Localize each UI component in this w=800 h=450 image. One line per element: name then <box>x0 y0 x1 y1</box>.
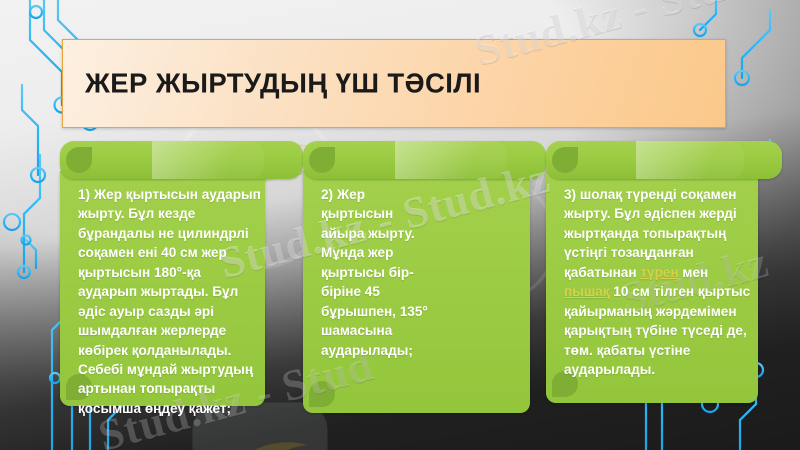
inline-link-пышақ[interactable]: пышақ <box>564 284 610 299</box>
content-box-banner <box>546 141 782 179</box>
page-title: ЖЕР ЖЫРТУДЫҢ ҮШ ТӘСІЛІ <box>85 67 481 99</box>
banner-sheen <box>636 141 745 179</box>
slide-canvas: ЖЕР ЖЫРТУДЫҢ ҮШ ТӘСІЛІ 1) Жер қыртысын а… <box>0 0 800 450</box>
corner-knob-icon <box>309 147 335 173</box>
banner-sheen <box>395 141 507 179</box>
corner-knob-icon <box>552 147 578 173</box>
content-box-banner <box>303 141 546 179</box>
content-box-banner <box>60 141 303 179</box>
corner-knob-icon <box>309 381 335 407</box>
content-box-text: 2) Жер қыртысын айыра жырту. Мұнда жер қ… <box>321 185 431 360</box>
corner-knob-icon <box>66 147 92 173</box>
inline-link-түрен[interactable]: түрен <box>640 265 678 280</box>
content-box-text: 3) шолақ түренді соқамен жырту. Бұл әдіс… <box>564 185 754 379</box>
slide-title-bar: ЖЕР ЖЫРТУДЫҢ ҮШ ТӘСІЛІ <box>62 39 726 128</box>
content-box-text: 1) Жер қыртысын аударып жырту. Бұл кезде… <box>78 185 263 418</box>
banner-sheen <box>152 141 264 179</box>
